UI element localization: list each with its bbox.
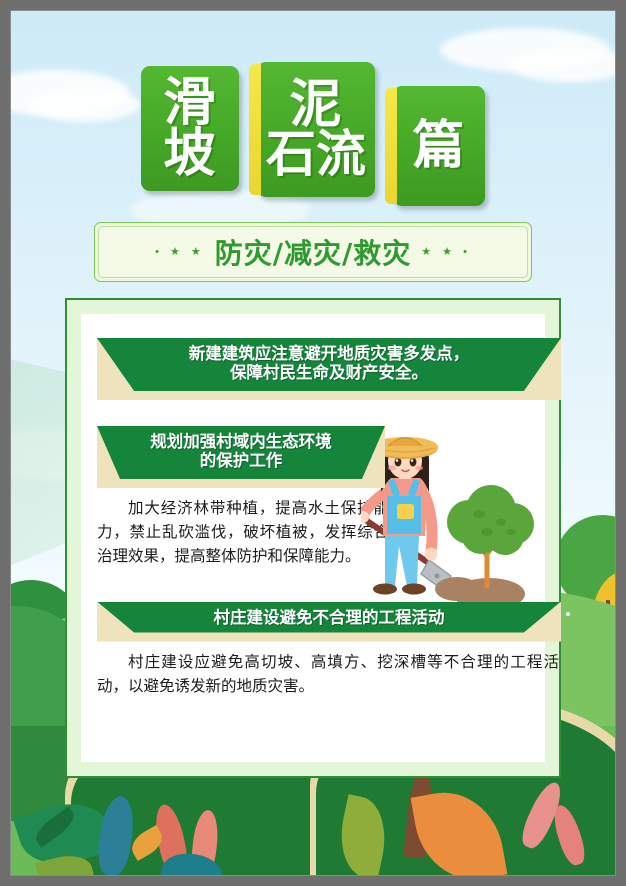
poster-root: 滑 坡 泥 石流 篇 • ★ ★ 防灾/减灾/救灾 ★ ★ • bbox=[0, 0, 626, 886]
banner-line: 村庄建设避免不合理的工程活动 bbox=[97, 608, 561, 627]
banner-line: 规划加强村域内生态环境 bbox=[97, 432, 385, 451]
banner-text: 规划加强村域内生态环境 的保护工作 bbox=[97, 426, 385, 471]
banner-text: 村庄建设避免不合理的工程活动 bbox=[97, 602, 561, 627]
banner-text: 新建建筑应注意避开地质灾害多发点， 保障村民生命及财产安全。 bbox=[97, 338, 561, 383]
banner-line: 保障村民生命及财产安全。 bbox=[97, 363, 561, 382]
banner-line: 新建建筑应注意避开地质灾害多发点， bbox=[97, 344, 561, 363]
banner-line: 的保护工作 bbox=[97, 451, 385, 470]
